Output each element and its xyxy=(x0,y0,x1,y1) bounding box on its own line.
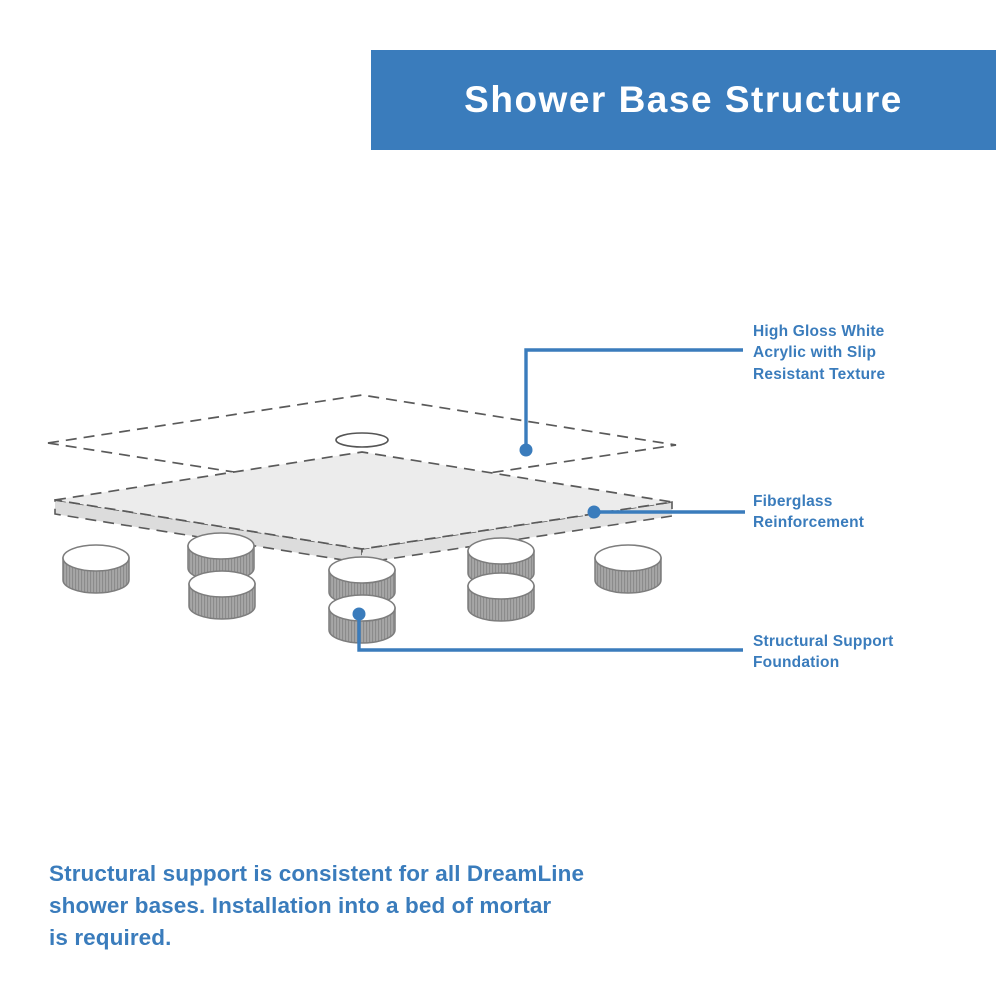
callout-line: High Gloss White xyxy=(753,321,968,342)
leader-dot-fiberglass xyxy=(588,506,601,519)
footer-caption: Structural support is consistent for all… xyxy=(49,858,709,954)
callout-line: Reinforcement xyxy=(753,512,968,533)
callout-label-structural-support-foundation: Structural Support Foundation xyxy=(753,631,968,674)
support-ring-1 xyxy=(63,545,129,593)
caption-line: shower bases. Installation into a bed of… xyxy=(49,890,709,922)
caption-line: is required. xyxy=(49,922,709,954)
callout-label-fiberglass-reinforcement: Fiberglass Reinforcement xyxy=(753,491,968,534)
callout-line: Resistant Texture xyxy=(753,364,968,385)
leader-line-support xyxy=(353,608,744,651)
callout-line: Foundation xyxy=(753,652,968,673)
callout-line: Fiberglass xyxy=(753,491,968,512)
page-root: Shower Base Structure xyxy=(0,0,1000,1000)
callout-label-high-gloss-white-acrylic: High Gloss White Acrylic with Slip Resis… xyxy=(753,321,968,385)
leader-dot-support xyxy=(353,608,366,621)
support-ring-8 xyxy=(595,545,661,593)
caption-line: Structural support is consistent for all… xyxy=(49,858,709,890)
callout-line: Structural Support xyxy=(753,631,968,652)
leader-dot-acrylic xyxy=(520,444,533,457)
support-ring-7 xyxy=(468,573,534,621)
leader-line-acrylic xyxy=(520,350,744,457)
support-ring-3 xyxy=(189,571,255,619)
callout-line: Acrylic with Slip xyxy=(753,342,968,363)
fiberglass-reinforcement-slab xyxy=(55,452,672,563)
drain-opening-ellipse xyxy=(336,433,388,447)
